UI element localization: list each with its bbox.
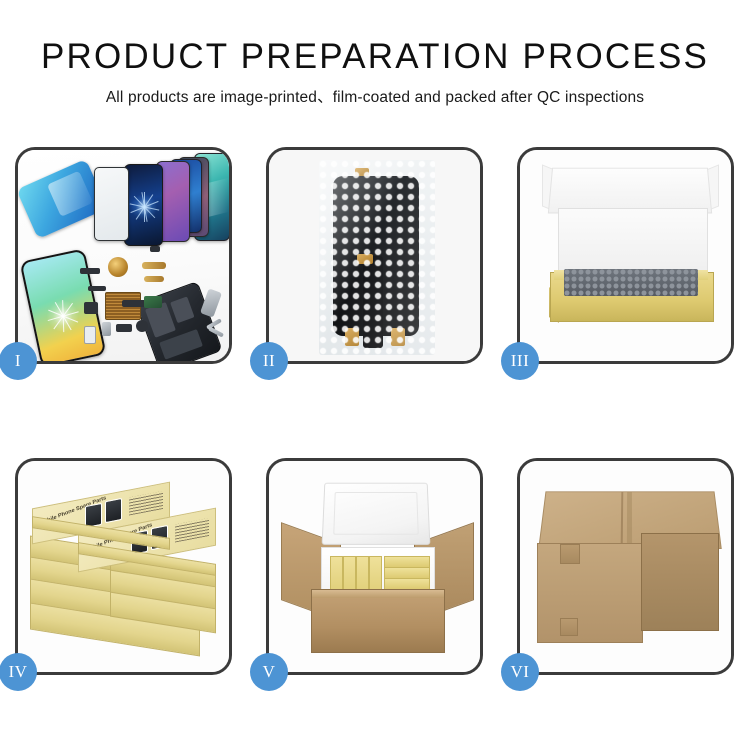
small-part-icon bbox=[80, 268, 100, 274]
step-badge: I bbox=[0, 342, 37, 380]
step-2-image bbox=[269, 150, 480, 361]
step-badge: VI bbox=[501, 653, 539, 691]
process-step-1[interactable]: I bbox=[15, 147, 232, 364]
step-badge: III bbox=[501, 342, 539, 380]
small-part-icon bbox=[84, 326, 96, 344]
flex-cable-icon bbox=[142, 262, 166, 269]
box-stack: Mobile Phone Spare Parts Mobile Phone Sp… bbox=[26, 487, 222, 652]
process-step-5[interactable]: V bbox=[266, 458, 483, 675]
box-lid bbox=[548, 168, 712, 214]
white-foam-sheet bbox=[558, 208, 708, 276]
small-part-icon bbox=[84, 302, 98, 314]
header: PRODUCT PREPARATION PROCESS All products… bbox=[0, 36, 750, 107]
step-3-image bbox=[520, 150, 731, 361]
pcb-icon bbox=[144, 296, 162, 308]
camera-ring-icon bbox=[108, 257, 128, 277]
small-part-icon bbox=[102, 322, 111, 336]
step-badge: V bbox=[250, 653, 288, 691]
small-part-icon bbox=[88, 286, 106, 291]
cracked-screen-icon bbox=[124, 164, 163, 246]
step-6-image bbox=[520, 461, 731, 672]
styrofoam-lid bbox=[322, 483, 431, 545]
bubble-wrap-package bbox=[319, 160, 435, 355]
process-step-2[interactable]: II bbox=[266, 147, 483, 364]
step-5-image bbox=[269, 461, 480, 672]
step-4-image: Mobile Phone Spare Parts Mobile Phone Sp… bbox=[18, 461, 229, 672]
grey-bubble-padding bbox=[564, 269, 698, 296]
small-part-icon bbox=[116, 324, 132, 332]
page-subtitle: All products are image-printed、film-coat… bbox=[0, 85, 750, 107]
plastic-sheen bbox=[319, 160, 435, 355]
process-grid: I II bbox=[15, 147, 735, 677]
process-step-6[interactable]: VI bbox=[517, 458, 734, 675]
speaker-icon bbox=[136, 320, 148, 332]
page-title: PRODUCT PREPARATION PROCESS bbox=[0, 36, 750, 78]
carton-front-face bbox=[537, 543, 643, 643]
step-badge: IV bbox=[0, 653, 37, 691]
glass-panel-icon bbox=[94, 167, 129, 241]
process-step-3[interactable]: III bbox=[517, 147, 734, 364]
step-badge: II bbox=[250, 342, 288, 380]
carton-side-face bbox=[641, 533, 719, 631]
step-1-image bbox=[18, 150, 229, 361]
process-step-4[interactable]: Mobile Phone Spare Parts Mobile Phone Sp… bbox=[15, 458, 232, 675]
shipping-carton bbox=[311, 589, 445, 653]
flex-cable-icon bbox=[144, 276, 164, 282]
small-part-icon bbox=[150, 246, 160, 252]
